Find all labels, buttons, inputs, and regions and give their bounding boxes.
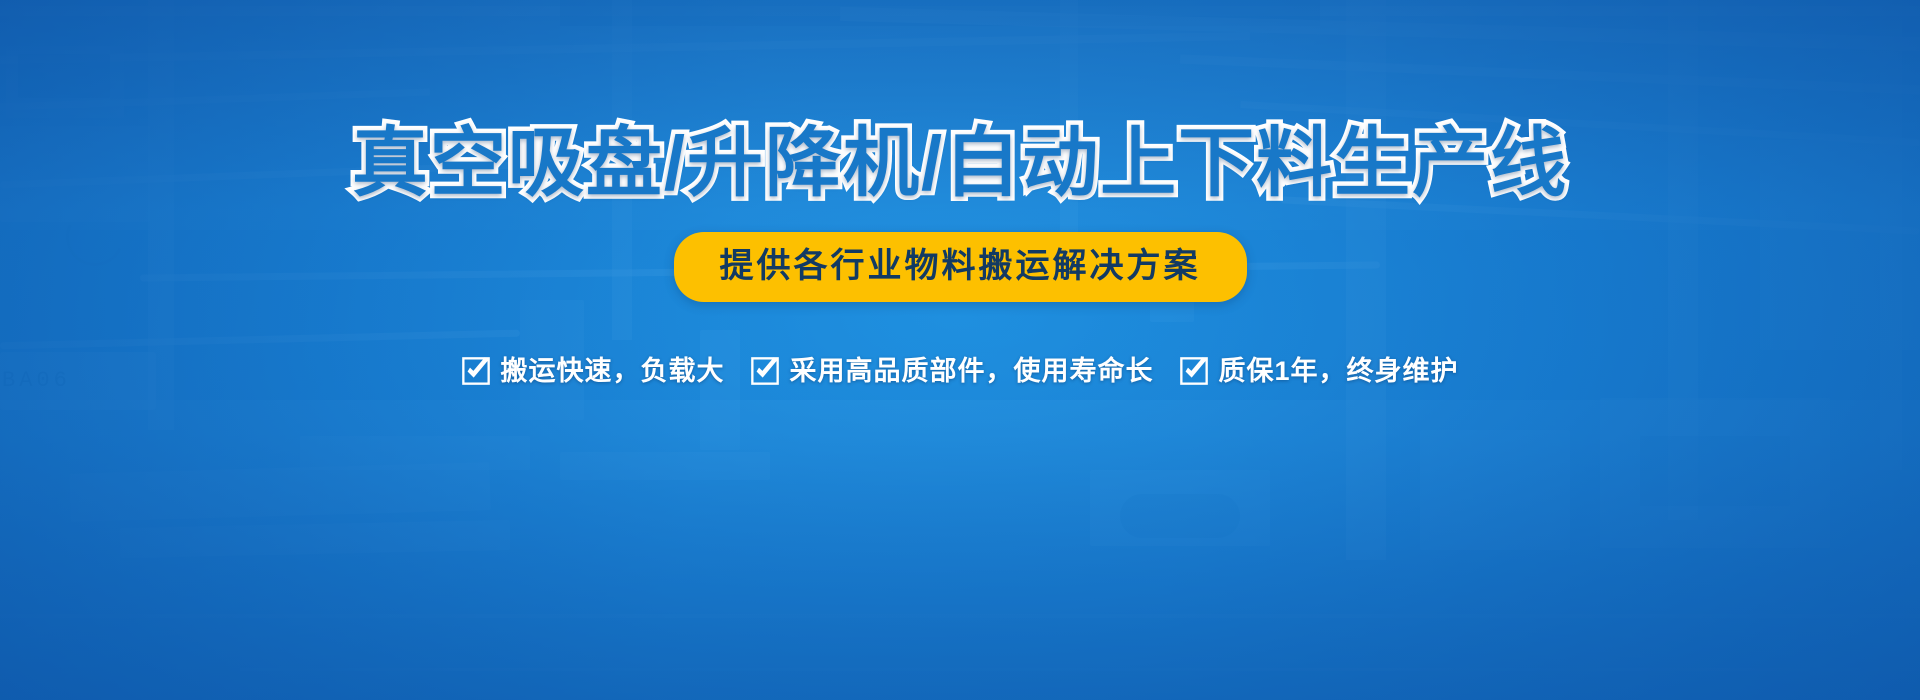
feature-item: 质保1年，终身维护 (1179, 356, 1458, 386)
feature-item: 采用高品质部件，使用寿命长 (750, 356, 1153, 386)
banner-title: 真空吸盘/升降机/自动上下料生产线 (352, 126, 1568, 202)
feature-label: 搬运快速，负载大 (500, 358, 724, 385)
check-box-icon (461, 356, 491, 386)
feature-list: 搬运快速，负载大 采用高品质部件，使用寿命长 质保1年，终身维护 (461, 356, 1458, 386)
banner-subtitle-pill: 提供各行业物料搬运解决方案 (674, 232, 1247, 302)
feature-label: 采用高品质部件，使用寿命长 (789, 358, 1153, 385)
check-box-icon (750, 356, 780, 386)
feature-label: 质保1年，终身维护 (1218, 358, 1458, 385)
feature-item: 搬运快速，负载大 (461, 356, 724, 386)
banner-content: 真空吸盘/升降机/自动上下料生产线 提供各行业物料搬运解决方案 搬运快速，负载大… (0, 0, 1920, 700)
check-box-icon (1179, 356, 1209, 386)
promo-banner: BA06 真空吸盘/升降机/自动上下料生产线 提供各行业物料搬运解决方案 (0, 0, 1920, 700)
